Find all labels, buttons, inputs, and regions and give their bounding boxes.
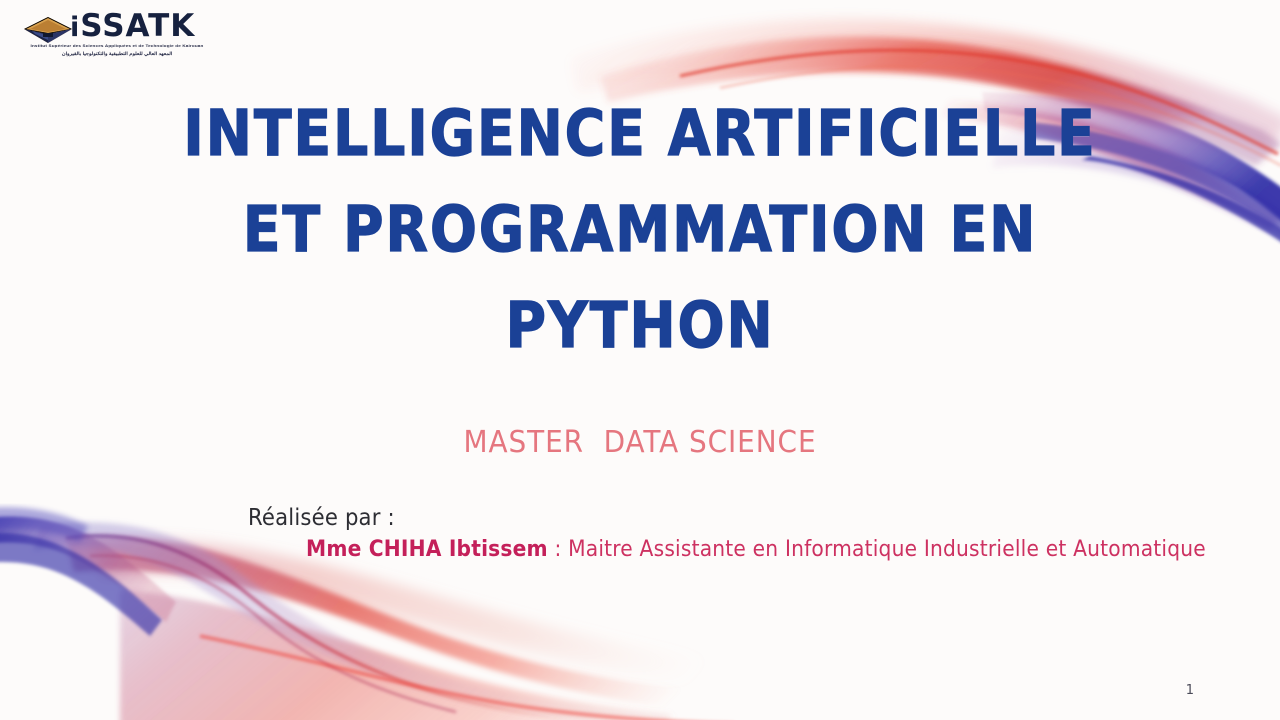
issatk-wordmark-lead: i: [70, 12, 80, 43]
title-line-2: ET PROGRAMMATION EN: [77, 182, 1203, 278]
title-line-1: INTELLIGENCE ARTIFICIELLE: [77, 86, 1203, 182]
slide-subtitle: MASTER DATA SCIENCE: [45, 425, 1235, 460]
author-intro-label: Réalisée par :: [248, 503, 1150, 533]
slide-title: INTELLIGENCE ARTIFICIELLE ET PROGRAMMATI…: [0, 86, 1280, 374]
issatk-wordmark: iSSATK: [70, 9, 195, 45]
issatk-diamond-logo-icon: [22, 14, 74, 46]
title-line-3: PYTHON: [77, 278, 1203, 374]
issatk-wordmark-main: SSATK: [80, 8, 195, 44]
author-detail-line: Mme CHIHA Ibtissem : Maitre Assistante e…: [306, 535, 1154, 567]
author-block: Réalisée par : Mme CHIHA Ibtissem : Mait…: [248, 503, 1228, 567]
logo-subtitle-french: Institut Supérieur des Sciences Appliqué…: [10, 43, 224, 47]
presentation-slide: iSSATK Institut Supérieur des Sciences A…: [0, 0, 1280, 720]
author-name: Mme CHIHA Ibtissem: [306, 537, 548, 562]
logo-subtitle-arabic: المعهد العالي للعلوم التطبيقية والتكنولو…: [10, 51, 224, 56]
issatk-logo: iSSATK Institut Supérieur des Sciences A…: [8, 8, 224, 62]
author-role: : Maitre Assistante en Informatique Indu…: [548, 537, 1206, 562]
page-number: 1: [1186, 683, 1194, 698]
